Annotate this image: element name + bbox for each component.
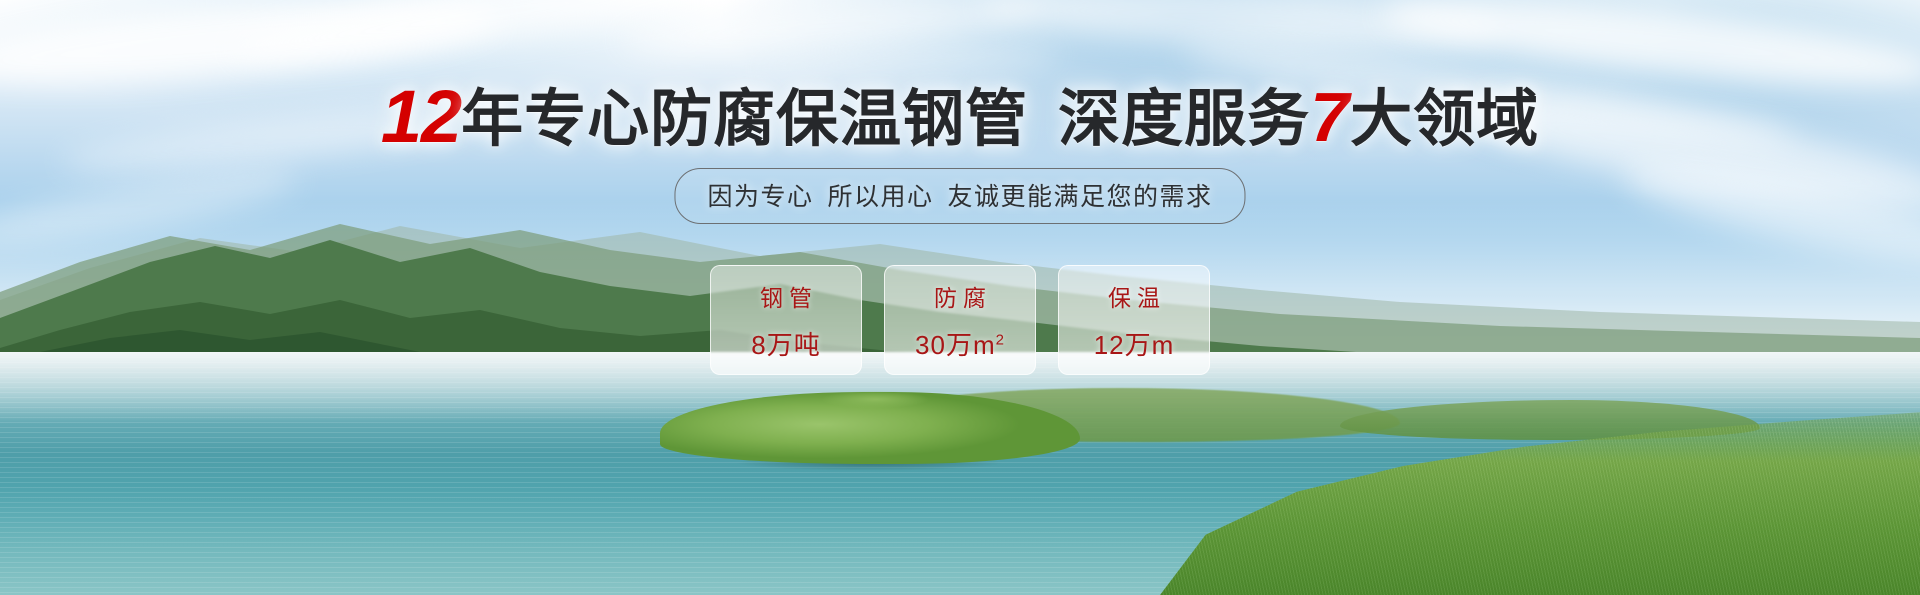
stat-card-value: 12万m [1094,325,1175,362]
stat-card-label: 防腐 [928,279,992,313]
stat-card-list: 钢管 8万吨 防腐 30万m2 保温 12万m [710,265,1210,375]
stat-card-value-main: 8万吨 [751,330,820,360]
headline-text-tertiary: 大领域 [1350,85,1539,154]
banner-content: 12年专心防腐保温钢管深度服务7大领域 因为专心所以用心友诚更能满足您的需求 钢… [0,0,1920,595]
stat-card: 防腐 30万m2 [884,265,1036,375]
slogan-part-1: 因为专心 [707,183,813,211]
promo-banner: 12年专心防腐保温钢管深度服务7大领域 因为专心所以用心友诚更能满足您的需求 钢… [0,0,1920,595]
stat-card-value: 30万m2 [915,325,1005,362]
headline: 12年专心防腐保温钢管深度服务7大领域 [0,80,1920,154]
stat-card-label: 保温 [1102,279,1166,313]
headline-fields-number: 7 [1310,78,1350,156]
stat-card: 保温 12万m [1058,265,1210,375]
slogan-part-2: 所以用心 [827,183,933,211]
stat-card-label: 钢管 [754,279,818,313]
stat-card-value-superscript: 2 [996,331,1005,348]
headline-text-primary: 年专心防腐保温钢管 [461,85,1028,154]
stat-card-value: 8万吨 [751,325,820,362]
stat-card-value-main: 12万m [1094,330,1175,360]
slogan-part-3: 友诚更能满足您的需求 [948,183,1213,211]
headline-text-secondary: 深度服务 [1058,85,1310,154]
stat-card: 钢管 8万吨 [710,265,862,375]
stat-card-value-main: 30万m [915,330,996,360]
headline-years-number: 12 [381,75,461,158]
slogan-pill: 因为专心所以用心友诚更能满足您的需求 [674,168,1245,224]
